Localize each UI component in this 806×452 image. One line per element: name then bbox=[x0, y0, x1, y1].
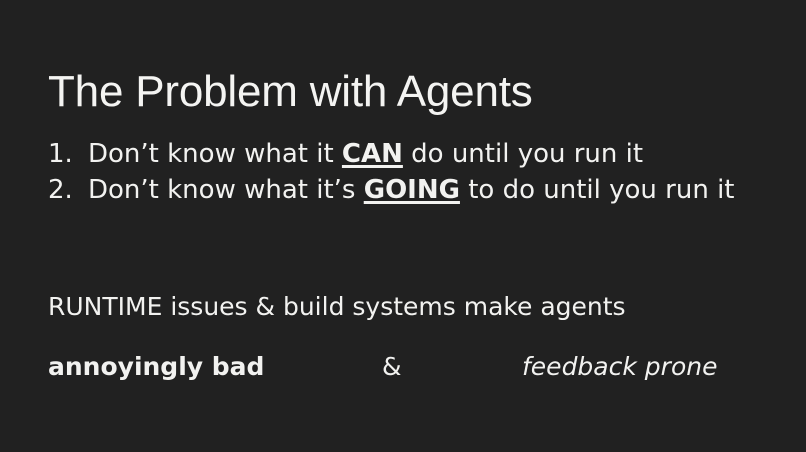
list-item-emphasis: CAN bbox=[342, 139, 403, 169]
list-item: 2. Don’t know what it’s GOING to do unti… bbox=[48, 172, 768, 208]
closing-italic-phrase: feedback prone bbox=[522, 350, 717, 384]
closing-statement-row: annoyingly bad & feedback prone bbox=[48, 350, 748, 384]
numbered-problem-list: 1. Don’t know what it CAN do until you r… bbox=[48, 136, 768, 208]
list-item-emphasis: GOING bbox=[364, 175, 460, 205]
list-item-label: Don’t know what it CAN do until you run … bbox=[88, 136, 643, 172]
list-item-text-before: Don’t know what it’s bbox=[88, 175, 364, 205]
presentation-slide: The Problem with Agents 1. Don’t know wh… bbox=[0, 0, 806, 452]
list-item-text-after: to do until you run it bbox=[460, 175, 735, 205]
page-title: The Problem with Agents bbox=[48, 66, 533, 118]
list-item-text-after: do until you run it bbox=[403, 139, 643, 169]
closing-conjunction: & bbox=[382, 350, 402, 384]
list-item-marker: 2. bbox=[48, 172, 88, 208]
closing-bold-phrase: annoyingly bad bbox=[48, 350, 264, 384]
list-item: 1. Don’t know what it CAN do until you r… bbox=[48, 136, 768, 172]
runtime-statement: RUNTIME issues & build systems make agen… bbox=[48, 290, 626, 324]
list-item-text-before: Don’t know what it bbox=[88, 139, 342, 169]
list-item-marker: 1. bbox=[48, 136, 88, 172]
list-item-label: Don’t know what it’s GOING to do until y… bbox=[88, 172, 735, 208]
